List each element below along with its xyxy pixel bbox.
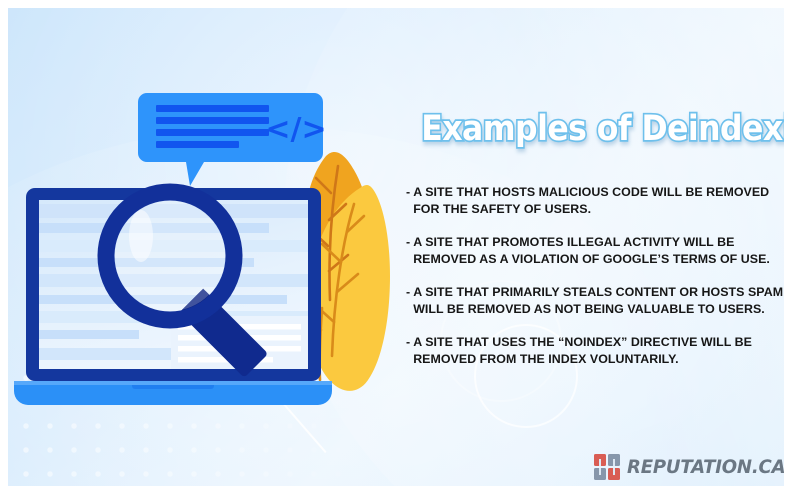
logo-square-top-left (594, 454, 606, 466)
bullet-text: A SITE THAT PRIMARILY STEALS CONTENT OR … (413, 284, 784, 317)
list-item: - A SITE THAT USES THE “NOINDEX” DIRECTI… (406, 334, 784, 367)
bullet-list: - A SITE THAT HOSTS MALICIOUS CODE WILL … (406, 184, 784, 384)
logo-wordmark: REPUTATION.CA (627, 456, 784, 478)
code-glyph-icon: </> (265, 112, 326, 147)
brand-logo[interactable]: REPUTATION.CA (594, 454, 784, 480)
bullet-text: A SITE THAT USES THE “NOINDEX” DIRECTIVE… (413, 334, 784, 367)
bullet-marker: - (406, 184, 410, 201)
page-title: Examples of Deindexing (421, 112, 768, 147)
speech-bubble: </> (138, 93, 327, 186)
infographic-canvas: </> (0, 0, 792, 494)
bullet-marker: - (406, 284, 410, 301)
bullet-text: A SITE THAT PROMOTES ILLEGAL ACTIVITY WI… (413, 234, 784, 267)
list-item: - A SITE THAT PRIMARILY STEALS CONTENT O… (406, 284, 784, 317)
logo-square-top-right (608, 454, 620, 466)
bullet-text: A SITE THAT HOSTS MALICIOUS CODE WILL BE… (413, 184, 784, 217)
logo-square-bottom-right (608, 468, 620, 480)
list-item: - A SITE THAT HOSTS MALICIOUS CODE WILL … (406, 184, 784, 217)
reputation-logo-icon (594, 454, 620, 480)
illustration-group: </> (8, 8, 428, 486)
bullet-marker: - (406, 234, 410, 251)
content-column: Examples of Deindexing - A SITE THAT HOS… (398, 8, 784, 486)
list-item: - A SITE THAT PROMOTES ILLEGAL ACTIVITY … (406, 234, 784, 267)
logo-square-bottom-left (594, 468, 606, 480)
bullet-marker: - (406, 334, 410, 351)
background-panel: </> (8, 8, 784, 486)
